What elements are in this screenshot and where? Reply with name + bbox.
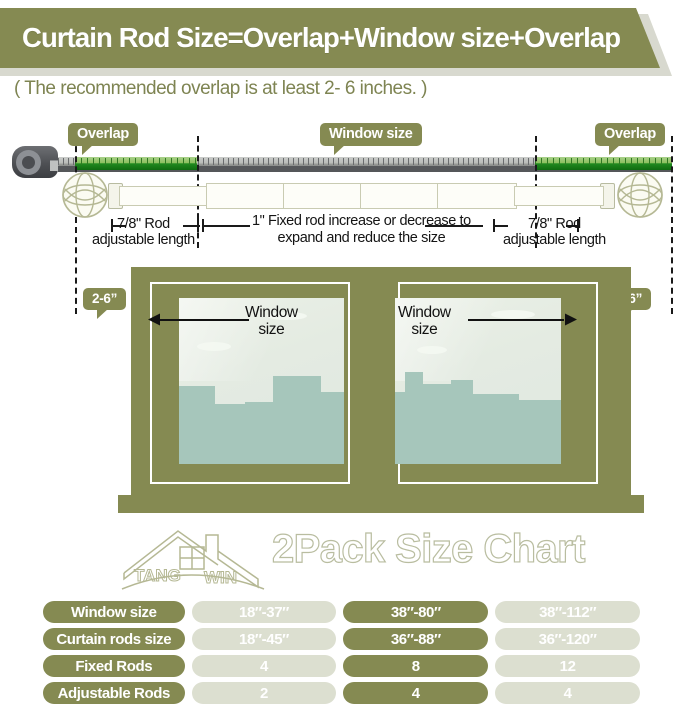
banner-body: Curtain Rod Size=Overlap+Window size+Ove…	[0, 8, 660, 68]
table-cell: 4	[495, 682, 640, 704]
rod-segment	[119, 186, 209, 206]
dim-rule-mid	[204, 225, 250, 227]
rod-segment	[206, 183, 286, 209]
note-center-fixed-rod: 1" Fixed rod increase or decrease to exp…	[252, 213, 471, 246]
header-subtitle: ( The recommended overlap is at least 2-…	[14, 78, 427, 100]
table-cell: 36″-120″	[495, 628, 640, 650]
table-cell: 36″-88″	[343, 628, 488, 650]
curtain-rod-finial-icon	[60, 169, 112, 221]
rod-segment	[514, 186, 604, 206]
window-size-label-right: Window size	[398, 305, 451, 338]
logo-text-win: WIN	[204, 568, 237, 587]
header-banner: Curtain Rod Size=Overlap+Window size+Ove…	[0, 8, 679, 74]
callout-overlap-left: Overlap	[68, 123, 138, 146]
table-row: Window size 18″-37″ 38″-80″ 38″-112″	[43, 601, 640, 623]
table-cell: 8	[343, 655, 488, 677]
table-cell: 18″-37″	[192, 601, 337, 623]
arrow-right-icon	[563, 313, 577, 326]
table-cell: 38″-112″	[495, 601, 640, 623]
row-header: Fixed Rods	[43, 655, 185, 677]
size-chart-table: Window size 18″-37″ 38″-80″ 38″-112″ Cur…	[43, 601, 640, 709]
window-size-arrow-right-line	[468, 319, 564, 321]
callout-overlap-left-measure: 2-6”	[83, 288, 126, 310]
table-row: Fixed Rods 4 8 12	[43, 655, 640, 677]
callout-overlap-right: Overlap	[595, 123, 665, 146]
table-cell: 2	[192, 682, 337, 704]
guide-line-left-outer	[75, 136, 77, 314]
table-row: Adjustable Rods 2 4 4	[43, 682, 640, 704]
dim-tick-left-end	[197, 219, 199, 232]
window-size-arrow-left-line	[160, 319, 249, 321]
curtain-rod-finial-icon	[613, 169, 665, 221]
table-cell: 38″-80″	[343, 601, 488, 623]
table-row: Curtain rods size 18″-45″ 36″-88″ 36″-12…	[43, 628, 640, 650]
guide-line-right-outer	[671, 136, 673, 314]
arrow-left-icon	[148, 313, 162, 326]
callout-window-size-top: Window size	[320, 123, 422, 146]
table-cell: 4	[192, 655, 337, 677]
infographic-root: Curtain Rod Size=Overlap+Window size+Ove…	[0, 0, 679, 716]
note-left-adjustable: 7/8" Rod adjustable length	[92, 216, 195, 248]
table-cell: 12	[495, 655, 640, 677]
row-header: Adjustable Rods	[43, 682, 185, 704]
note-right-adjustable: 7/8" Rod adjustable length	[503, 216, 606, 248]
house-outline-icon: TANG WIN	[118, 521, 268, 593]
window-size-label-left: Window size	[245, 305, 298, 338]
window-sill	[118, 495, 644, 513]
rod-segment	[283, 183, 363, 209]
page-title: Curtain Rod Size=Overlap+Window size+Ove…	[22, 22, 620, 54]
table-cell: 4	[343, 682, 488, 704]
rod-segment	[437, 183, 517, 209]
row-header: Curtain rods size	[43, 628, 185, 650]
table-cell: 18″-45″	[192, 628, 337, 650]
rod-segment	[360, 183, 440, 209]
dim-rule-right-a	[425, 225, 483, 227]
size-chart-title: 2Pack Size Chart	[272, 527, 585, 572]
logo-text-tang: TANG	[134, 566, 181, 585]
row-header: Window size	[43, 601, 185, 623]
